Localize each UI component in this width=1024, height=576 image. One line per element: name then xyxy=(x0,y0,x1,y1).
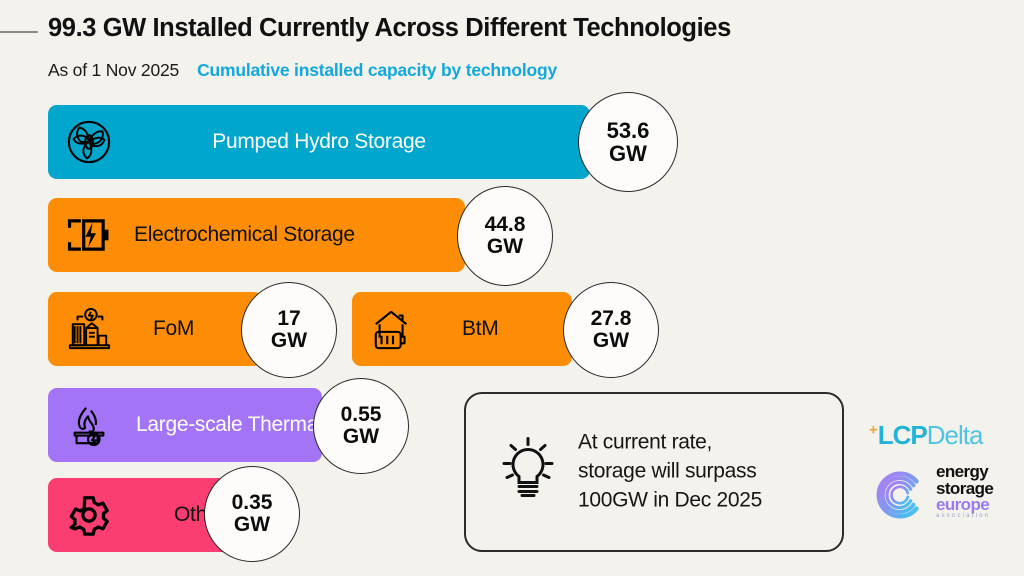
bar-pumped-hydro-storage[interactable]: Pumped Hydro Storage xyxy=(48,105,590,179)
value-number: 0.35 xyxy=(232,492,273,514)
battery-bolt-icon xyxy=(66,212,112,258)
power-plant-icon xyxy=(66,306,112,352)
subheader: As of 1 Nov 2025Cumulative installed cap… xyxy=(48,60,557,81)
ese-line-association: association xyxy=(936,514,993,520)
bar-label-electrochemical-storage: Electrochemical Storage xyxy=(134,223,355,247)
value-unit: GW xyxy=(271,330,307,352)
lightbulb-icon xyxy=(491,433,565,512)
plus-icon: + xyxy=(869,421,878,438)
infographic-canvas: 99.3 GW Installed Currently Across Diffe… xyxy=(0,0,1024,576)
lcp-delta-logo: +LCPDelta xyxy=(869,420,982,451)
callout-line-1: At current rate, xyxy=(578,431,712,454)
lcp-wordmark: LCP xyxy=(878,420,927,450)
page-title: 99.3 GW Installed Currently Across Diffe… xyxy=(48,14,731,43)
bar-label-fom: FoM xyxy=(153,317,194,341)
bar-btm[interactable]: BtM xyxy=(352,292,572,366)
bar-large-scale-thermal[interactable]: Large-scale Thermal xyxy=(48,388,322,462)
value-number: 0.55 xyxy=(341,404,382,426)
value-bubble-btm: 27.8 GW xyxy=(563,282,659,378)
gear-icon xyxy=(66,492,112,538)
value-unit: GW xyxy=(343,426,379,448)
value-number: 17 xyxy=(277,308,300,330)
callout-line-2: storage will surpass xyxy=(578,460,756,483)
bar-electrochemical-storage[interactable]: Electrochemical Storage xyxy=(48,198,465,272)
horizontal-rule-icon xyxy=(0,31,38,33)
value-bubble-large-scale-thermal: 0.55 GW xyxy=(313,378,409,474)
home-battery-icon xyxy=(370,306,416,352)
flame-icon xyxy=(66,402,112,448)
value-unit: GW xyxy=(609,142,647,165)
value-unit: GW xyxy=(234,514,270,536)
value-number: 44.8 xyxy=(485,214,526,236)
bar-label-pumped-hydro-storage: Pumped Hydro Storage xyxy=(48,130,590,154)
value-unit: GW xyxy=(593,330,629,352)
callout-line-3: 100GW in Dec 2025 xyxy=(578,488,762,511)
ese-line-europe: europe xyxy=(936,497,993,514)
value-unit: GW xyxy=(487,236,523,258)
energy-storage-europe-logo: energy storage europe association xyxy=(872,462,1012,532)
callout-text: At current rate, storage will surpass 10… xyxy=(578,429,762,516)
swirl-icon xyxy=(872,466,930,529)
as-of-date: As of 1 Nov 2025 xyxy=(48,60,179,80)
ese-wordmark: energy storage europe association xyxy=(936,464,993,520)
value-bubble-pumped-hydro-storage: 53.6 GW xyxy=(578,92,678,192)
delta-wordmark: Delta xyxy=(927,420,983,450)
bar-label-large-scale-thermal: Large-scale Thermal xyxy=(136,413,323,437)
value-bubble-other: 0.35 GW xyxy=(204,466,300,562)
insight-callout: At current rate, storage will surpass 10… xyxy=(464,392,844,552)
value-bubble-fom: 17 GW xyxy=(241,282,337,378)
bar-label-btm: BtM xyxy=(462,317,498,341)
value-number: 53.6 xyxy=(607,119,650,142)
value-number: 27.8 xyxy=(591,308,632,330)
chart-subtitle: Cumulative installed capacity by technol… xyxy=(197,60,557,80)
bar-fom[interactable]: FoM xyxy=(48,292,263,366)
value-bubble-electrochemical-storage: 44.8 GW xyxy=(457,186,553,286)
